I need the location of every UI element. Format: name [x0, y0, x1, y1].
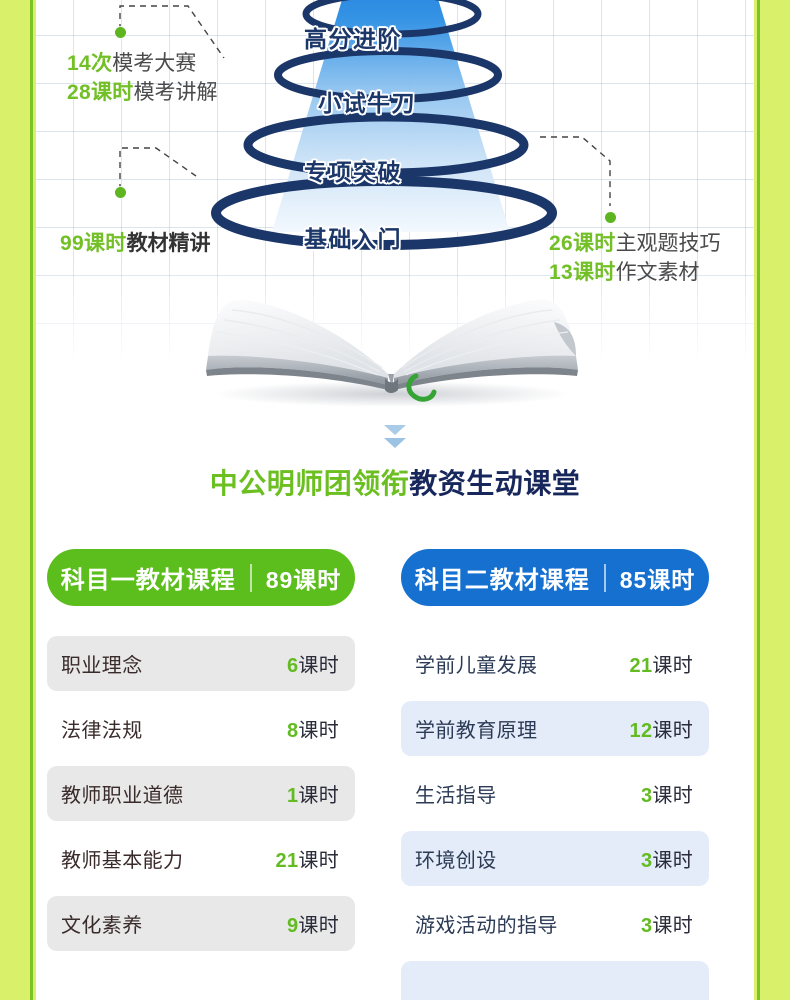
callout-right-block: 26课时主观题技巧 13课时作文素材 — [549, 229, 721, 287]
section-tagline: 中公明师团领衔教资生动课堂 — [36, 462, 754, 502]
row-hours-unit: 课时 — [652, 785, 693, 807]
callout-desc: 模考大赛 — [112, 52, 196, 75]
callout-textbook-intensive: 99课时教材精讲 — [60, 229, 211, 258]
page-root: 高分进阶 小试牛刀 专项突破 基础入门 14次模考大赛 28课时模考讲解 — [0, 0, 790, 1000]
subject-one-total-hours: 89课时 — [266, 561, 342, 595]
row-hours-unit: 课时 — [652, 720, 693, 742]
callout-subjective-skills: 26课时主观题技巧 — [549, 229, 721, 258]
list-item[interactable]: 学前儿童发展 21课时 — [401, 636, 709, 691]
tagline-green-part: 中公明师团领衔 — [210, 468, 410, 499]
subject-one-header[interactable]: 科目一教材课程 89课时 — [47, 549, 355, 606]
row-hours: 8课时 — [287, 714, 339, 743]
row-hours: 3课时 — [641, 844, 693, 873]
row-hours-number: 1 — [287, 785, 298, 807]
row-name: 游戏活动的指导 — [415, 909, 558, 938]
row-name: 学前教育原理 — [415, 714, 537, 743]
row-hours: 3课时 — [641, 909, 693, 938]
list-item[interactable]: 文化素养 9课时 — [47, 896, 355, 951]
row-name: 学前儿童发展 — [415, 649, 537, 678]
right-border-band — [757, 0, 790, 1000]
callout-textbook-block: 99课时教材精讲 — [60, 229, 211, 258]
list-item[interactable]: 游戏活动的指导 3课时 — [401, 896, 709, 951]
row-hours-unit: 课时 — [298, 785, 339, 807]
list-item[interactable]: 环境创设 3课时 — [401, 831, 709, 886]
callout-dot-mock — [115, 27, 126, 38]
list-item[interactable]: 教师职业道德 1课时 — [47, 766, 355, 821]
header-divider — [250, 564, 252, 592]
left-border-band — [0, 0, 33, 1000]
list-item[interactable]: 生活指导 3课时 — [401, 766, 709, 821]
row-hours: 9课时 — [287, 909, 339, 938]
subject-one-title: 科目一教材课程 — [61, 560, 236, 595]
subject-one-column: 科目一教材课程 89课时 职业理念 6课时 法律法规 8课时 教师职业道德 — [47, 549, 355, 961]
row-hours-unit: 课时 — [298, 655, 339, 677]
row-hours-unit: 课时 — [298, 850, 339, 872]
header-divider — [604, 564, 606, 592]
subject-two-header[interactable]: 科目二教材课程 85课时 — [401, 549, 709, 606]
row-hours-unit: 课时 — [298, 720, 339, 742]
row-hours-number: 3 — [641, 785, 652, 807]
row-hours-number: 3 — [641, 850, 652, 872]
row-hours-number: 9 — [287, 915, 298, 937]
subject-two-title: 科目二教材课程 — [415, 560, 590, 595]
subject-two-total-hours: 85课时 — [620, 561, 696, 595]
callout-desc: 教材精讲 — [127, 232, 211, 255]
row-name: 生活指导 — [415, 779, 497, 808]
row-hours-unit: 课时 — [298, 915, 339, 937]
callout-desc: 作文素材 — [616, 261, 700, 284]
subject-two-row-list: 学前儿童发展 21课时 学前教育原理 12课时 生活指导 3课时 环境创设 3课… — [401, 636, 709, 1000]
row-hours-number: 21 — [276, 850, 299, 872]
callout-mock-exam-lecture: 28课时模考讲解 — [67, 78, 218, 107]
open-book-illustration — [202, 282, 582, 407]
list-item[interactable]: 职业理念 6课时 — [47, 636, 355, 691]
callout-num: 99课时 — [60, 232, 127, 255]
list-item[interactable]: 教师基本能力 21课时 — [47, 831, 355, 886]
callout-num: 28课时 — [67, 81, 134, 104]
row-hours-unit: 课时 — [652, 655, 693, 677]
row-hours-number: 3 — [641, 915, 652, 937]
list-item-partial[interactable] — [401, 961, 709, 1000]
callout-num: 26课时 — [549, 232, 616, 255]
subject-two-column: 科目二教材课程 85课时 学前儿童发展 21课时 学前教育原理 12课时 生活指… — [401, 549, 709, 1000]
callout-dot-textbook — [115, 187, 126, 198]
row-name: 法律法规 — [61, 714, 143, 743]
callout-desc: 模考讲解 — [134, 81, 218, 104]
row-name: 环境创设 — [415, 844, 497, 873]
row-name: 文化素养 — [61, 909, 143, 938]
list-item[interactable]: 法律法规 8课时 — [47, 701, 355, 756]
callout-num: 14次 — [67, 52, 112, 75]
chevron-down-icon — [384, 425, 406, 435]
book-icon — [202, 282, 582, 407]
chevron-down-icon — [384, 438, 406, 448]
tagline-dark-part: 教资生动课堂 — [409, 468, 580, 499]
callout-dot-subjective — [605, 212, 616, 223]
row-hours: 3课时 — [641, 779, 693, 808]
row-name: 教师基本能力 — [61, 844, 183, 873]
row-name: 职业理念 — [61, 649, 143, 678]
scroll-hint-chevrons — [36, 425, 754, 451]
row-hours-unit: 课时 — [652, 915, 693, 937]
row-hours: 21课时 — [630, 649, 693, 678]
subject-one-row-list: 职业理念 6课时 法律法规 8课时 教师职业道德 1课时 教师基本能力 21课时 — [47, 636, 355, 951]
row-hours: 6课时 — [287, 649, 339, 678]
callout-desc: 主观题技巧 — [616, 232, 721, 255]
list-item[interactable]: 学前教育原理 12课时 — [401, 701, 709, 756]
callout-num: 13课时 — [549, 261, 616, 284]
row-hours-number: 6 — [287, 655, 298, 677]
callout-mock-exam-contest: 14次模考大赛 — [67, 49, 218, 78]
row-hours: 12课时 — [630, 714, 693, 743]
row-hours: 1课时 — [287, 779, 339, 808]
callout-mock-block: 14次模考大赛 28课时模考讲解 — [67, 49, 218, 107]
row-hours-unit: 课时 — [652, 850, 693, 872]
row-name: 教师职业道德 — [61, 779, 183, 808]
row-hours-number: 8 — [287, 720, 298, 742]
row-hours: 21课时 — [276, 844, 339, 873]
content-canvas: 高分进阶 小试牛刀 专项突破 基础入门 14次模考大赛 28课时模考讲解 — [36, 0, 754, 1000]
row-hours-number: 12 — [630, 720, 653, 742]
row-hours-number: 21 — [630, 655, 653, 677]
